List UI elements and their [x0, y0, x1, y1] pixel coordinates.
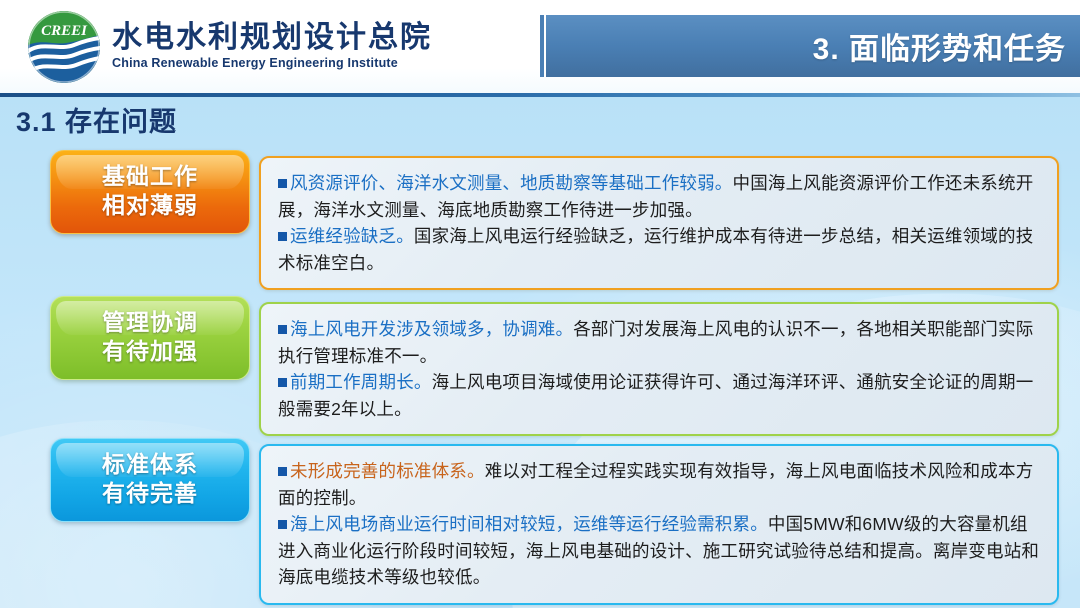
row-content-panel-2: 海上风电开发涉及领域多，协调难。各部门对发展海上风电的认识不一，各地相关职能部门… — [259, 302, 1059, 436]
svg-text:CREEI: CREEI — [41, 23, 88, 39]
bullet-square-icon — [278, 467, 287, 476]
creei-circle-logo-icon: CREEI — [28, 11, 100, 83]
title-bar-accent — [540, 15, 544, 77]
bullet-square-icon — [278, 179, 287, 188]
row-content-panel-3: 未形成完善的标准体系。难以对工程全过程实践实现有效指导，海上风电面临技术风险和成… — [259, 444, 1059, 605]
row-tag-line-1: 基础工作 — [57, 162, 243, 191]
row-content-panel-1: 风资源评价、海洋水文测量、地质勘察等基础工作较弱。中国海上风能资源评价工作还未系… — [259, 156, 1059, 290]
brand-text: 水电水利规划设计总院 China Renewable Energy Engine… — [112, 22, 432, 73]
row-tag-management: 管理协调 有待加强 — [50, 296, 250, 380]
bullet-lead: 风资源评价、海洋水文测量、地质勘察等基础工作较弱。 — [290, 173, 733, 193]
row-tag-line-1: 管理协调 — [57, 308, 243, 337]
bullet-square-icon — [278, 232, 287, 241]
bullet-item: 风资源评价、海洋水文测量、地质勘察等基础工作较弱。中国海上风能资源评价工作还未系… — [278, 170, 1041, 223]
row-tag-line-1: 标准体系 — [57, 450, 243, 479]
presentation-slide: CREEI 水电水利规划设计总院 China Renewable Energy … — [0, 0, 1080, 608]
bullet-lead: 海上风电开发涉及领域多，协调难。 — [290, 319, 573, 339]
bullet-item: 运维经验缺乏。国家海上风电运行经验缺乏，运行维护成本有待进一步总结，相关运维领域… — [278, 223, 1041, 276]
bullet-square-icon — [278, 325, 287, 334]
brand-name-en: China Renewable Energy Engineering Insti… — [112, 54, 432, 73]
brand-name-cn: 水电水利规划设计总院 — [112, 22, 432, 54]
row-tag-line-2: 相对薄弱 — [57, 191, 243, 220]
row-tag-standards: 标准体系 有待完善 — [50, 438, 250, 522]
row-tag-line-2: 有待完善 — [57, 479, 243, 508]
chapter-title: 3. 面临形势和任务 — [813, 24, 1066, 68]
bullet-square-icon — [278, 378, 287, 387]
section-heading: 3.1 存在问题 — [16, 100, 177, 139]
bullet-lead: 海上风电场商业运行时间相对较短，运维等运行经验需积累。 — [290, 514, 768, 534]
row-tag-line-2: 有待加强 — [57, 337, 243, 366]
row-tag-basic-work: 基础工作 相对薄弱 — [50, 150, 250, 234]
bullet-lead: 前期工作周期长。 — [290, 372, 432, 392]
bullet-lead: 未形成完善的标准体系。 — [290, 461, 485, 481]
bullet-lead: 运维经验缺乏。 — [290, 226, 414, 246]
bullet-item: 海上风电开发涉及领域多，协调难。各部门对发展海上风电的认识不一，各地相关职能部门… — [278, 316, 1041, 369]
slide-header: CREEI 水电水利规划设计总院 China Renewable Energy … — [0, 0, 1080, 95]
bullet-item: 未形成完善的标准体系。难以对工程全过程实践实现有效指导，海上风电面临技术风险和成… — [278, 458, 1041, 511]
bullet-item: 海上风电场商业运行时间相对较短，运维等运行经验需积累。中国5MW和6MW级的大容… — [278, 511, 1041, 591]
chapter-title-bar: 3. 面临形势和任务 — [546, 15, 1080, 77]
brand-logo: CREEI 水电水利规划设计总院 China Renewable Energy … — [28, 11, 432, 83]
bullet-square-icon — [278, 520, 287, 529]
bullet-item: 前期工作周期长。海上风电项目海域使用论证获得许可、通过海洋环评、通航安全论证的周… — [278, 369, 1041, 422]
header-divider — [0, 93, 1080, 97]
